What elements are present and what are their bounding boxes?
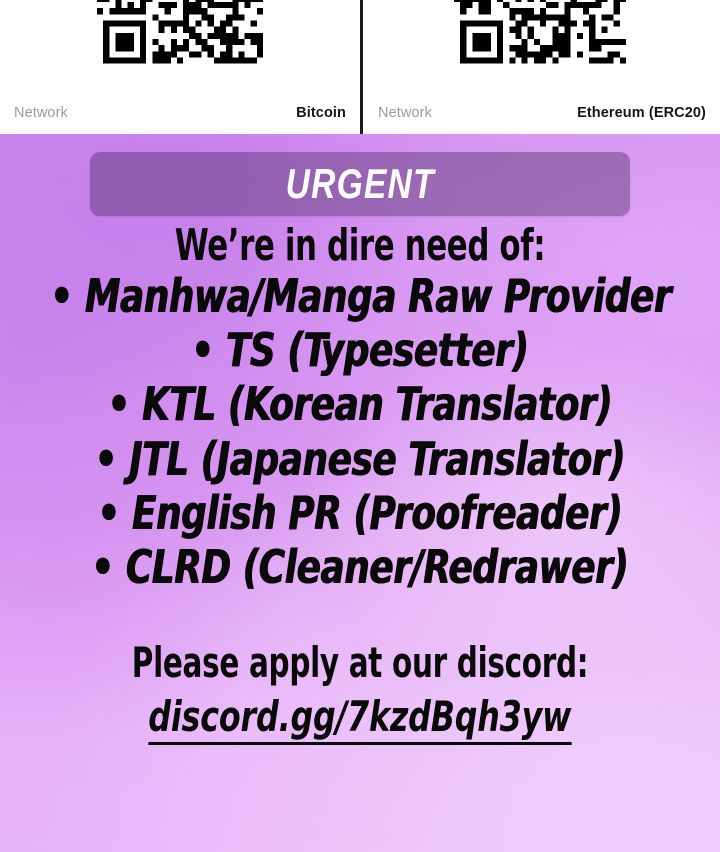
need-item: • CLRD (Cleaner/Redrawer) [50,540,669,594]
need-item: • JTL (Japanese Translator) [50,432,669,486]
crypto-donation-strip: Network Bitcoin Network Ethereum (ERC20) [0,0,720,134]
urgent-banner: URGENT [90,152,630,216]
bitcoin-network-row: Network Bitcoin [0,100,360,126]
bitcoin-qr-code[interactable] [97,0,263,76]
discord-invite-link[interactable]: discord.gg/7kzdBqh3yw [148,693,571,746]
need-item: • TS (Typesetter) [50,323,669,377]
panel-divider [360,0,363,134]
apply-instruction: Please apply at our discord: [79,640,641,686]
needs-block: We’re in dire need of: • Manhwa/Manga Ra… [0,224,720,594]
need-item: • KTL (Korean Translator) [50,377,669,431]
ethereum-qr-code[interactable] [454,0,626,76]
need-item: • English PR (Proofreader) [50,486,669,540]
network-value: Bitcoin [296,105,346,121]
network-label: Network [14,105,68,121]
apply-block: Please apply at our discord: discord.gg/… [0,640,720,745]
urgent-banner-label: URGENT [285,163,434,205]
screenshot-root: Network Bitcoin Network Ethereum (ERC20)… [0,0,720,852]
crypto-panel-bitcoin: Network Bitcoin [0,0,360,134]
recruitment-poster: URGENT We’re in dire need of: • Manhwa/M… [0,134,720,852]
needs-headline: We’re in dire need of: [79,224,641,269]
network-label: Network [378,105,432,121]
need-item: • Manhwa/Manga Raw Provider [50,269,669,323]
network-value: Ethereum (ERC20) [577,105,706,121]
crypto-panel-ethereum: Network Ethereum (ERC20) [360,0,720,134]
ethereum-network-row: Network Ethereum (ERC20) [360,100,720,126]
